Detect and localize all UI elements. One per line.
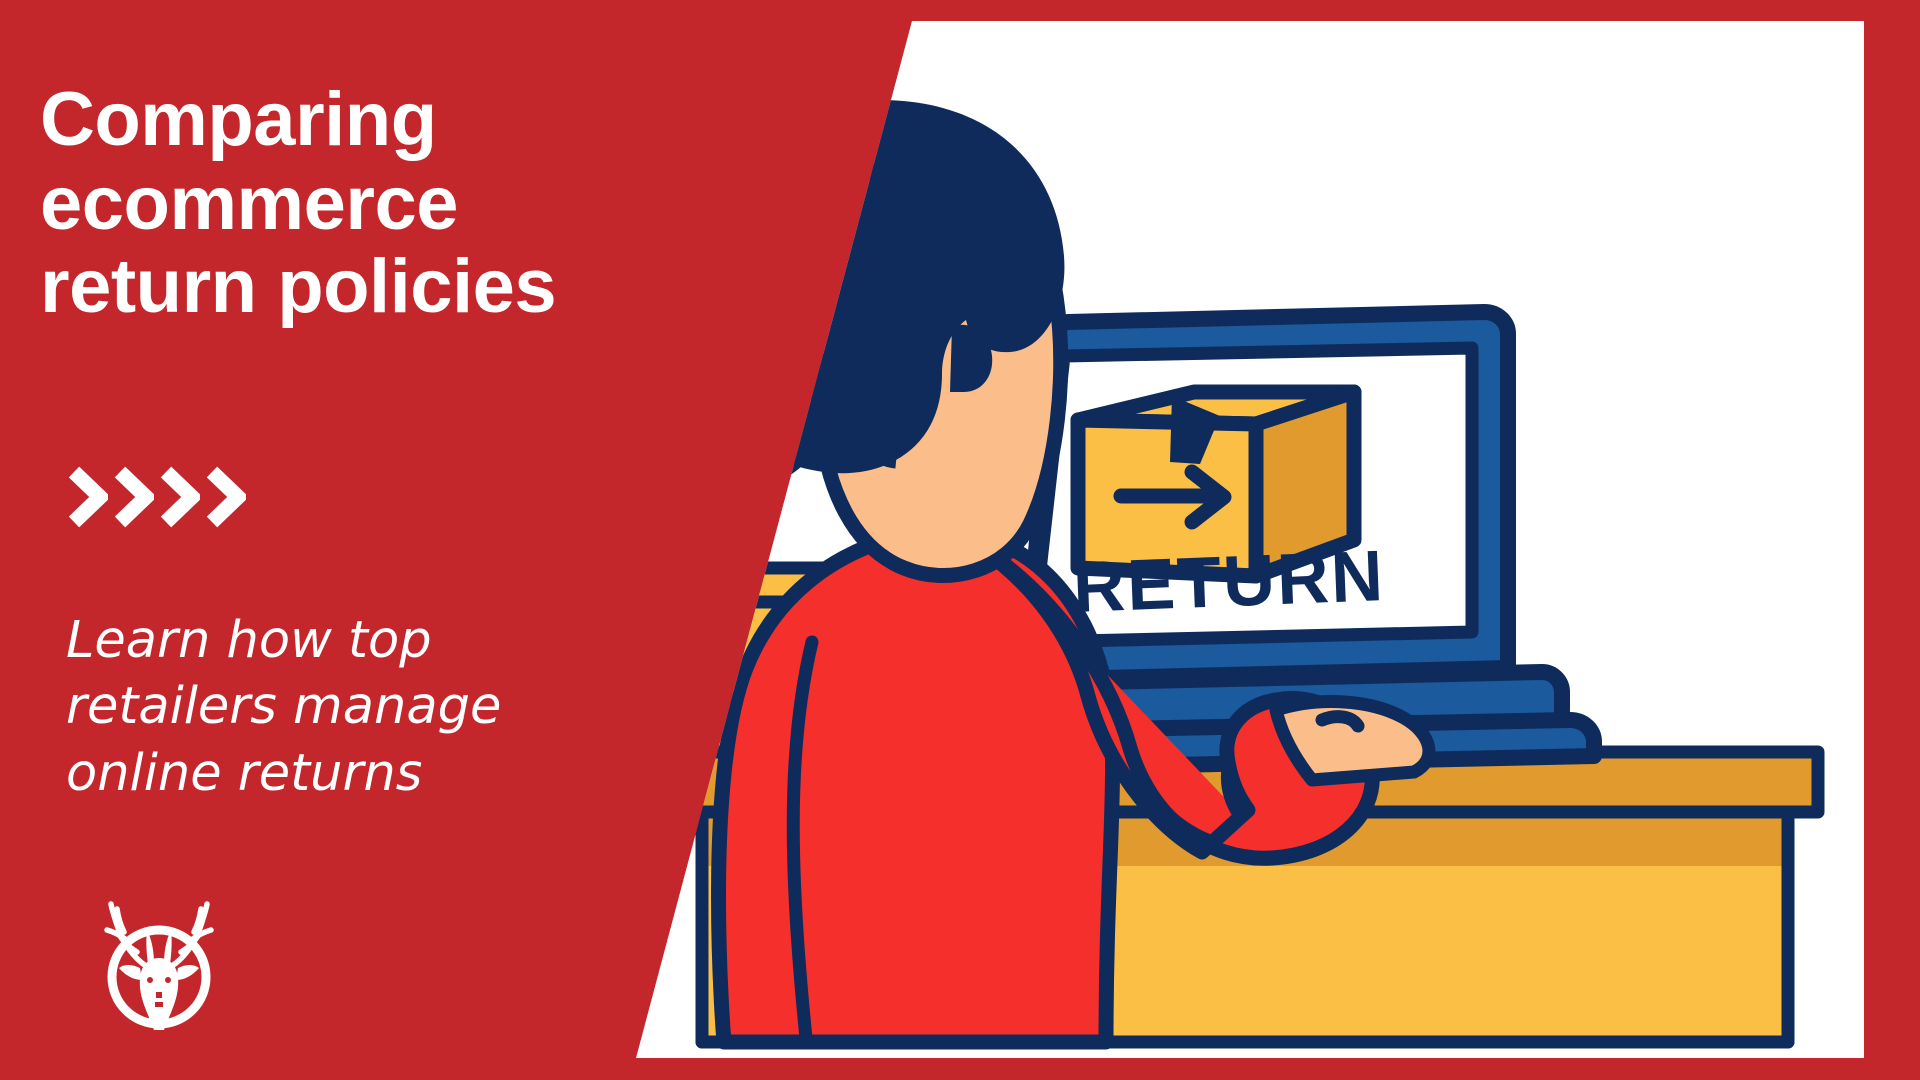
page-subtitle: Learn how top retailers manage online re… — [66, 608, 666, 807]
laptop-screen-label: RETURN — [1072, 536, 1387, 628]
page-title: Comparing ecommerce return policies — [40, 78, 680, 329]
subtitle-line-3: online returns — [66, 741, 666, 807]
chevron-right-icon — [160, 466, 200, 528]
leaf — [676, 452, 753, 566]
illustration-artwork: RETURN — [636, 20, 1876, 1062]
poster-canvas: RETURN — [0, 0, 1920, 1080]
subtitle-line-2: retailers manage — [66, 674, 666, 740]
chevron-right-icon — [206, 466, 246, 528]
chevrons-right-icon — [68, 466, 246, 528]
headline-line-3: return policies — [40, 245, 680, 329]
text-column: Comparing ecommerce return policies Lear… — [40, 0, 660, 1080]
chevron-right-icon — [68, 466, 108, 528]
stag-head-in-circle-logo — [84, 892, 234, 1042]
headline-line-2: ecommerce — [40, 162, 680, 246]
headline-line-1: Comparing — [40, 78, 680, 162]
chevron-right-icon — [114, 466, 154, 528]
leaf — [671, 332, 755, 460]
logo-antlers — [107, 904, 211, 966]
subtitle-line-1: Learn how top — [66, 608, 666, 674]
